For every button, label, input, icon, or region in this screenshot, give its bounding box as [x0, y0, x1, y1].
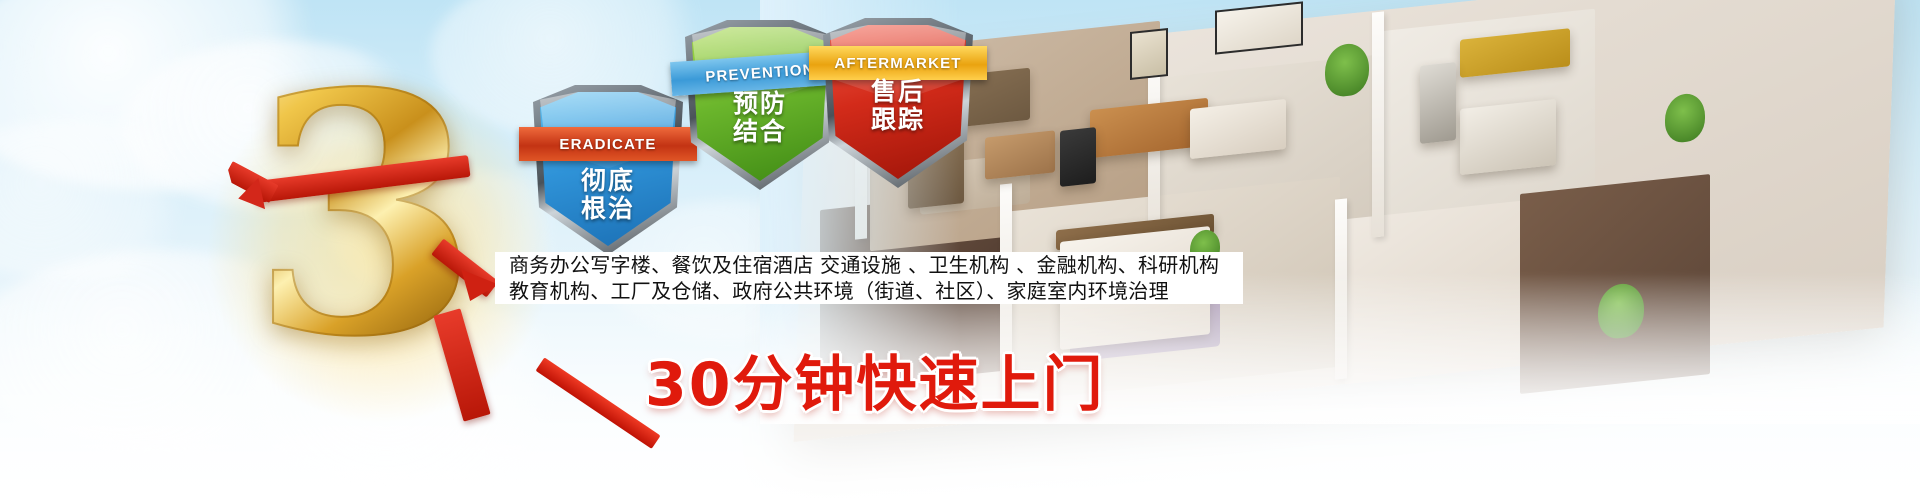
shield-chinese-label: 售后 跟踪 [823, 78, 973, 134]
shield-chinese-line-2: 跟踪 [823, 106, 973, 134]
wall-art [1130, 28, 1168, 80]
headline-text: 30分钟快速上门 [645, 355, 1105, 415]
shield-chinese-line-1: 彻底 [533, 167, 683, 195]
shield-chinese-line-1: 预防 [685, 90, 835, 118]
wall-partition [1372, 11, 1384, 237]
refrigerator [1420, 62, 1456, 144]
coffee-table [985, 130, 1055, 179]
shield-chinese-label: 预防 结合 [685, 90, 835, 146]
shield-chinese-line-2: 根治 [533, 195, 683, 223]
gold-number-graphic: 3 [230, 80, 530, 410]
service-scope-panel: 商务办公写字楼、餐饮及住宿酒店 交通设施 、卫生机构 、金融机构、科研机构 教育… [495, 252, 1243, 304]
shield-chinese-label: 彻底 根治 [533, 167, 683, 223]
shield-english-label: ERADICATE [519, 127, 697, 161]
wall-art [1215, 1, 1303, 54]
shield-english-label: AFTERMARKET [809, 46, 987, 80]
service-scope-line-1: 商务办公写字楼、餐饮及住宿酒店 交通设施 、卫生机构 、金融机构、科研机构 [495, 252, 1243, 278]
shield-chinese-line-2: 结合 [685, 118, 835, 146]
promo-banner: 3 ERADICATE 彻底 根治 PREVENTION 预防 结合 AFTE [0, 0, 1920, 500]
dining-table [1190, 99, 1286, 159]
kitchen-counter [1460, 99, 1556, 175]
shield-chinese-line-1: 售后 [823, 78, 973, 106]
shield-badge-aftermarket[interactable]: AFTERMARKET 售后 跟踪 [823, 18, 973, 188]
service-scope-line-2: 教育机构、工厂及仓储、政府公共环境（街道、社区）、家庭室内环境治理 [495, 278, 1243, 304]
office-chair [1060, 127, 1096, 187]
shield-badge-eradicate[interactable]: ERADICATE 彻底 根治 [533, 85, 683, 255]
